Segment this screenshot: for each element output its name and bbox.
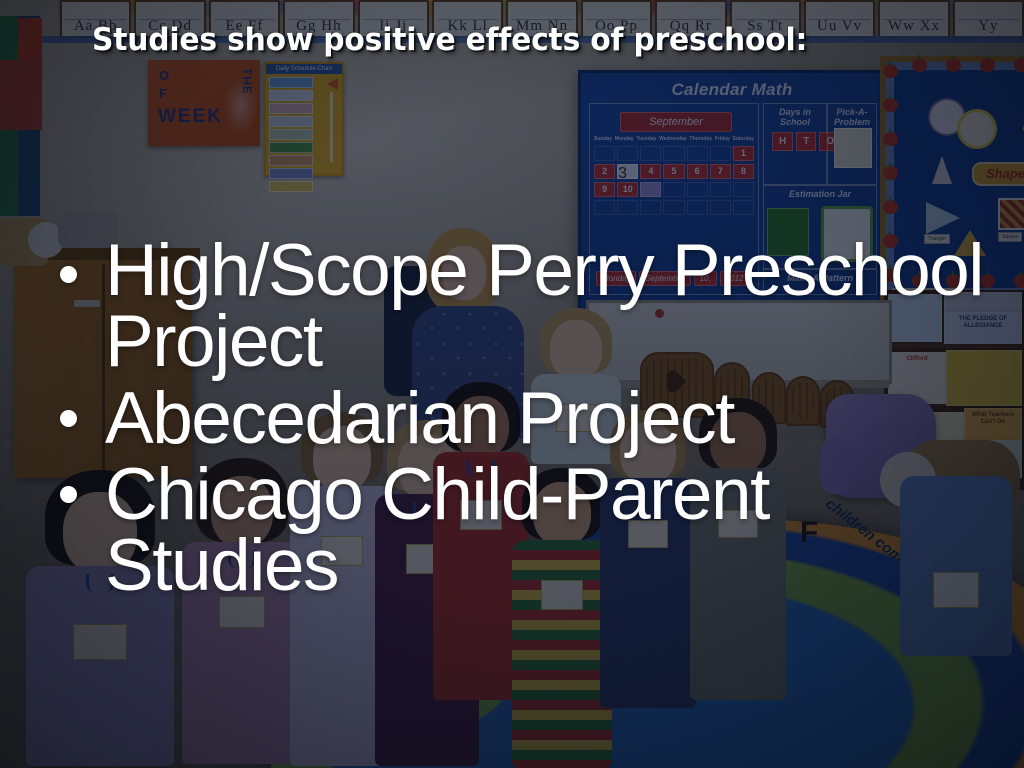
bullet-text: High/Scope Perry Preschool Project (105, 236, 990, 378)
slide-bullet-list: High/Scope Perry Preschool Project Abece… (60, 236, 990, 602)
bullet-text: Chicago Child-Parent Studies (105, 460, 990, 602)
bullet-dot-icon (60, 410, 77, 427)
list-item: High/Scope Perry Preschool Project (60, 236, 990, 378)
list-item: Chicago Child-Parent Studies (60, 460, 990, 602)
slide-canvas: Aa Bb Cc Dd Ee Ff Gg Hh Ii Jj Kk Ll Mm N… (0, 0, 1024, 768)
bullet-text: Abecedarian Project (105, 384, 734, 455)
bullet-dot-icon (60, 266, 77, 283)
slide-title: Studies show positive effects of prescho… (92, 22, 918, 58)
list-item: Abecedarian Project (60, 384, 990, 455)
bullet-dot-icon (60, 486, 77, 503)
